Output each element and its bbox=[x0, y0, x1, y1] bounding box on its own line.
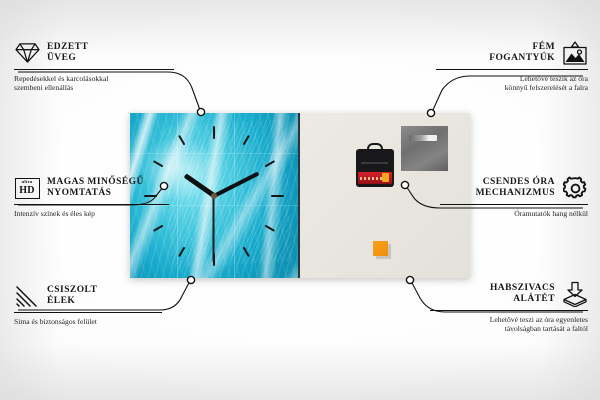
ultra-hd-icon: ultra HD bbox=[14, 175, 40, 201]
feature-title: EDZETT ÜVEG bbox=[47, 42, 88, 65]
feature-metal-hooks: FÉM FOGANTYÚK Lehetővé teszik az óra kön… bbox=[436, 40, 588, 93]
feature-header: EDZETT ÜVEG bbox=[14, 40, 174, 69]
feature-header: CSENDES ÓRA MECHANIZMUS bbox=[440, 175, 588, 204]
polished-edges-icon bbox=[14, 283, 40, 309]
feature-header: HABSZIVACS ALÁTÉT bbox=[430, 281, 588, 310]
feature-header: CSISZOLT ÉLEK bbox=[14, 283, 162, 312]
feature-title: MAGAS MINŐSÉGŰ NYOMTATÁS bbox=[47, 177, 144, 200]
feature-polished-edges: CSISZOLT ÉLEK Sima és biztonságos felüle… bbox=[14, 283, 162, 326]
feature-description: Sima és biztonságos felület bbox=[14, 313, 162, 326]
feature-title: FÉM FOGANTYÚK bbox=[489, 42, 555, 65]
product-infographic: EDZETT ÜVEG Repedésekkel és karcolásokka… bbox=[0, 0, 600, 400]
feature-tempered-glass: EDZETT ÜVEG Repedésekkel és karcolásokka… bbox=[14, 40, 174, 93]
feature-description: Repedésekkel és karcolásokkal szembeni e… bbox=[14, 70, 174, 93]
connector-dot-hooks bbox=[427, 109, 434, 116]
feature-description: Óramutatók hang nélkül bbox=[440, 205, 588, 218]
feature-title: CSISZOLT ÉLEK bbox=[47, 285, 97, 308]
feature-quiet-mechanism: CSENDES ÓRA MECHANIZMUS Óramutatók hang … bbox=[440, 175, 588, 218]
hanging-frame-icon bbox=[562, 40, 588, 66]
connector-dot-edges bbox=[187, 276, 194, 283]
connector-dot-foam bbox=[406, 276, 413, 283]
feature-description: Lehetővé teszik az óra könnyű felszerelé… bbox=[436, 70, 588, 93]
feature-high-quality-print: ultra HD MAGAS MINŐSÉGŰ NYOMTATÁS Intenz… bbox=[14, 175, 169, 218]
gear-icon bbox=[562, 175, 588, 201]
feature-foam-pad: HABSZIVACS ALÁTÉT Lehetővé teszi az óra … bbox=[430, 281, 588, 334]
feature-header: FÉM FOGANTYÚK bbox=[436, 40, 588, 69]
feature-description: Intenzív színek és éles kép bbox=[14, 205, 169, 218]
diamond-icon bbox=[14, 40, 40, 66]
feature-header: ultra HD MAGAS MINŐSÉGŰ NYOMTATÁS bbox=[14, 175, 169, 204]
connector-dot-glass bbox=[197, 108, 204, 115]
feature-title: HABSZIVACS ALÁTÉT bbox=[490, 283, 555, 306]
connector-dot-mechanism bbox=[401, 181, 408, 188]
feature-description: Lehetővé teszi az óra egyenletes távolsá… bbox=[430, 311, 588, 334]
feature-title: CSENDES ÓRA MECHANIZMUS bbox=[476, 177, 555, 200]
foam-pad-arrow-icon bbox=[562, 281, 588, 307]
ultra-hd-icon-main-text: HD bbox=[19, 186, 35, 196]
